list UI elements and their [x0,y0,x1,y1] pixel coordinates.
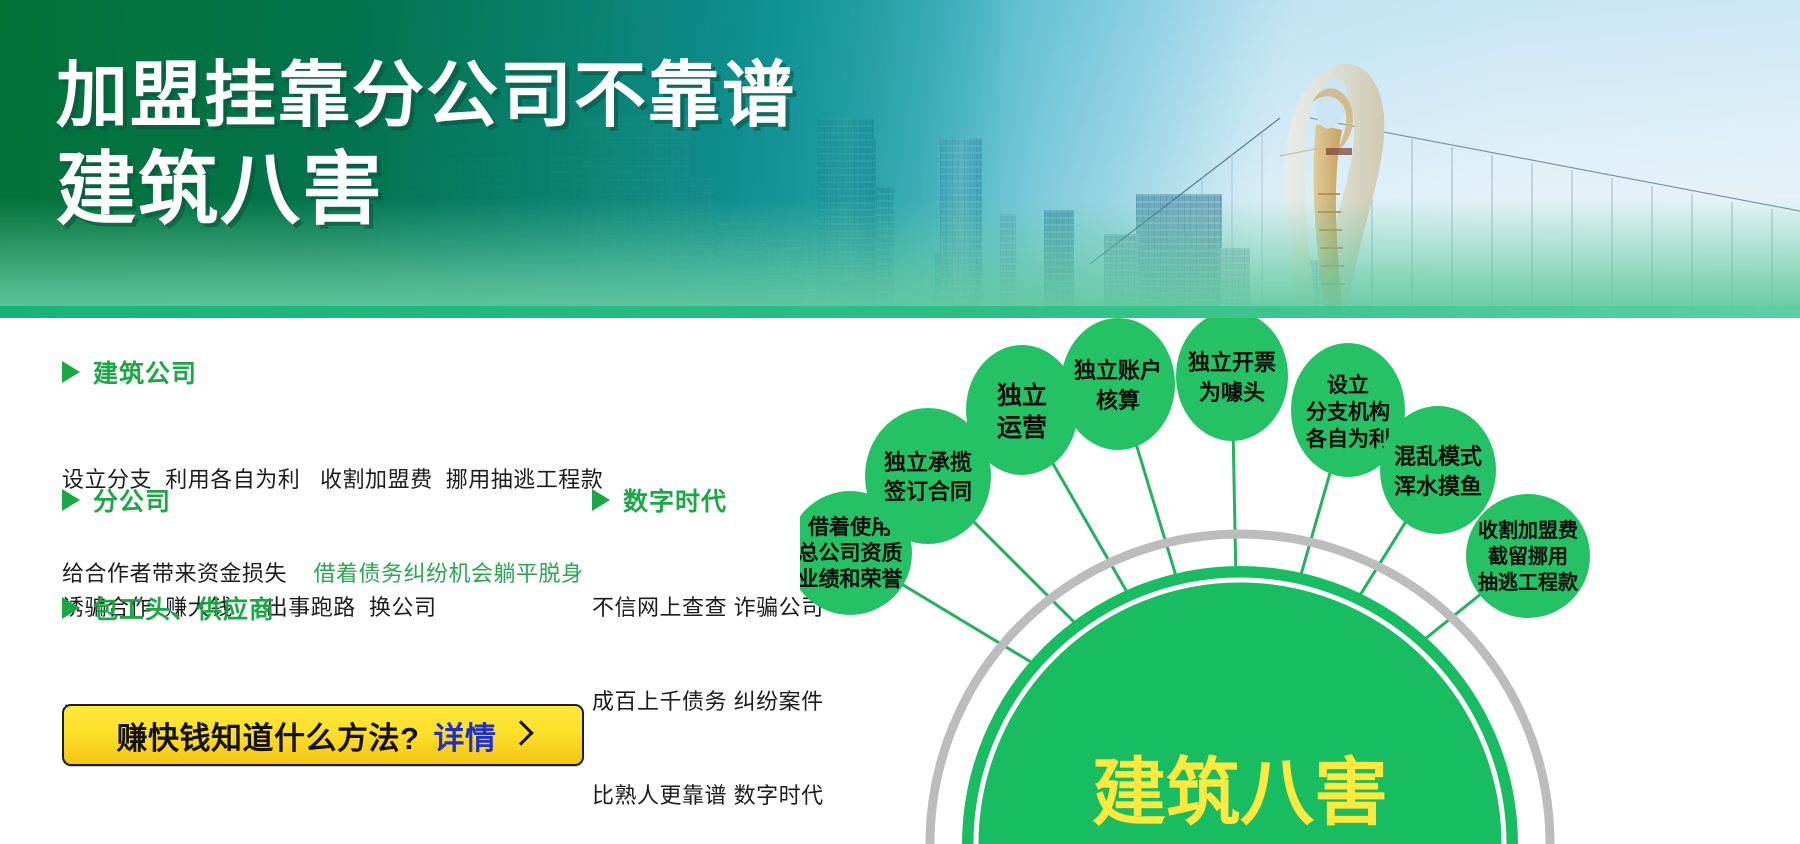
bubble-5[interactable]: 独立开票 为噱头 [1176,318,1288,441]
svg-text:独立承揽: 独立承揽 [884,450,972,475]
bubble-3[interactable]: 独立 运营 [966,345,1078,475]
cta-label: 赚快钱知道什么方法? [117,713,420,758]
hero-banner: 加盟挂靠分公司不靠谱 建筑八害 [0,0,1800,318]
svg-text:独立账户: 独立账户 [1074,358,1162,383]
section-heading-label: 包工头、供应商 [93,590,275,626]
content-area: 建筑公司 设立分支 利用各自为利 收割加盟费 挪用抽逃工程款 给合作者带来资金损… [0,318,1800,844]
dome-label: 建筑八害 [1092,751,1388,834]
triangle-bullet-icon [592,489,610,511]
svg-text:总公司资质: 总公司资质 [800,541,903,565]
svg-text:混乱模式: 混乱模式 [1394,444,1482,469]
section-heading-branch-company: 分公司 [62,482,622,518]
svg-text:运营: 运营 [997,414,1047,442]
section-heading-contractor-supplier: 包工头、供应商 [62,590,622,626]
svg-text:业绩和荣誉: 业绩和荣誉 [800,567,903,591]
svg-text:收割加盟费: 收割加盟费 [1478,518,1578,542]
svg-text:抽逃工程款: 抽逃工程款 [1478,570,1579,594]
chevron-right-icon [512,721,529,750]
svg-text:为噱头: 为噱头 [1199,380,1265,405]
svg-text:各自为利: 各自为利 [1305,427,1390,451]
section-heading-label: 数字时代 [623,482,727,518]
svg-text:签订合同: 签订合同 [883,479,972,504]
triangle-bullet-icon [62,597,80,619]
section-heading-label: 建筑公司 [93,354,197,390]
bubble-7[interactable]: 混乱模式 浑水摸鱼 [1380,406,1496,534]
hero-bottom-bar [0,306,1800,318]
eight-harms-diagram: 建筑八害 借着使用 总公司资质 业绩和荣誉 独立承揽 签订合同 独立 运营 [800,318,1800,844]
page-title: 加盟挂靠分公司不靠谱 建筑八害 [56,56,796,234]
svg-text:分支机构: 分支机构 [1306,400,1390,424]
bubble-4[interactable]: 独立账户 核算 [1061,318,1175,450]
hero-title-line1: 加盟挂靠分公司不靠谱 [56,56,796,137]
bubble-8[interactable]: 收割加盟费 截留挪用 抽逃工程款 [1466,494,1590,618]
svg-text:浑水摸鱼: 浑水摸鱼 [1394,474,1482,499]
cta-button[interactable]: 赚快钱知道什么方法? 详情 [62,704,584,766]
svg-text:设立: 设立 [1327,373,1369,397]
svg-text:独立开票: 独立开票 [1188,350,1276,375]
section-heading-construction-company: 建筑公司 [62,354,682,390]
triangle-bullet-icon [62,489,80,511]
cta-link-label[interactable]: 详情 [433,713,496,758]
triangle-bullet-icon [62,361,80,383]
hero-title-line2: 建筑八害 [56,145,796,235]
svg-text:独立: 独立 [997,381,1047,410]
section-heading-label: 分公司 [93,482,171,518]
svg-text:核算: 核算 [1096,388,1140,413]
svg-text:截留挪用: 截留挪用 [1488,544,1568,568]
